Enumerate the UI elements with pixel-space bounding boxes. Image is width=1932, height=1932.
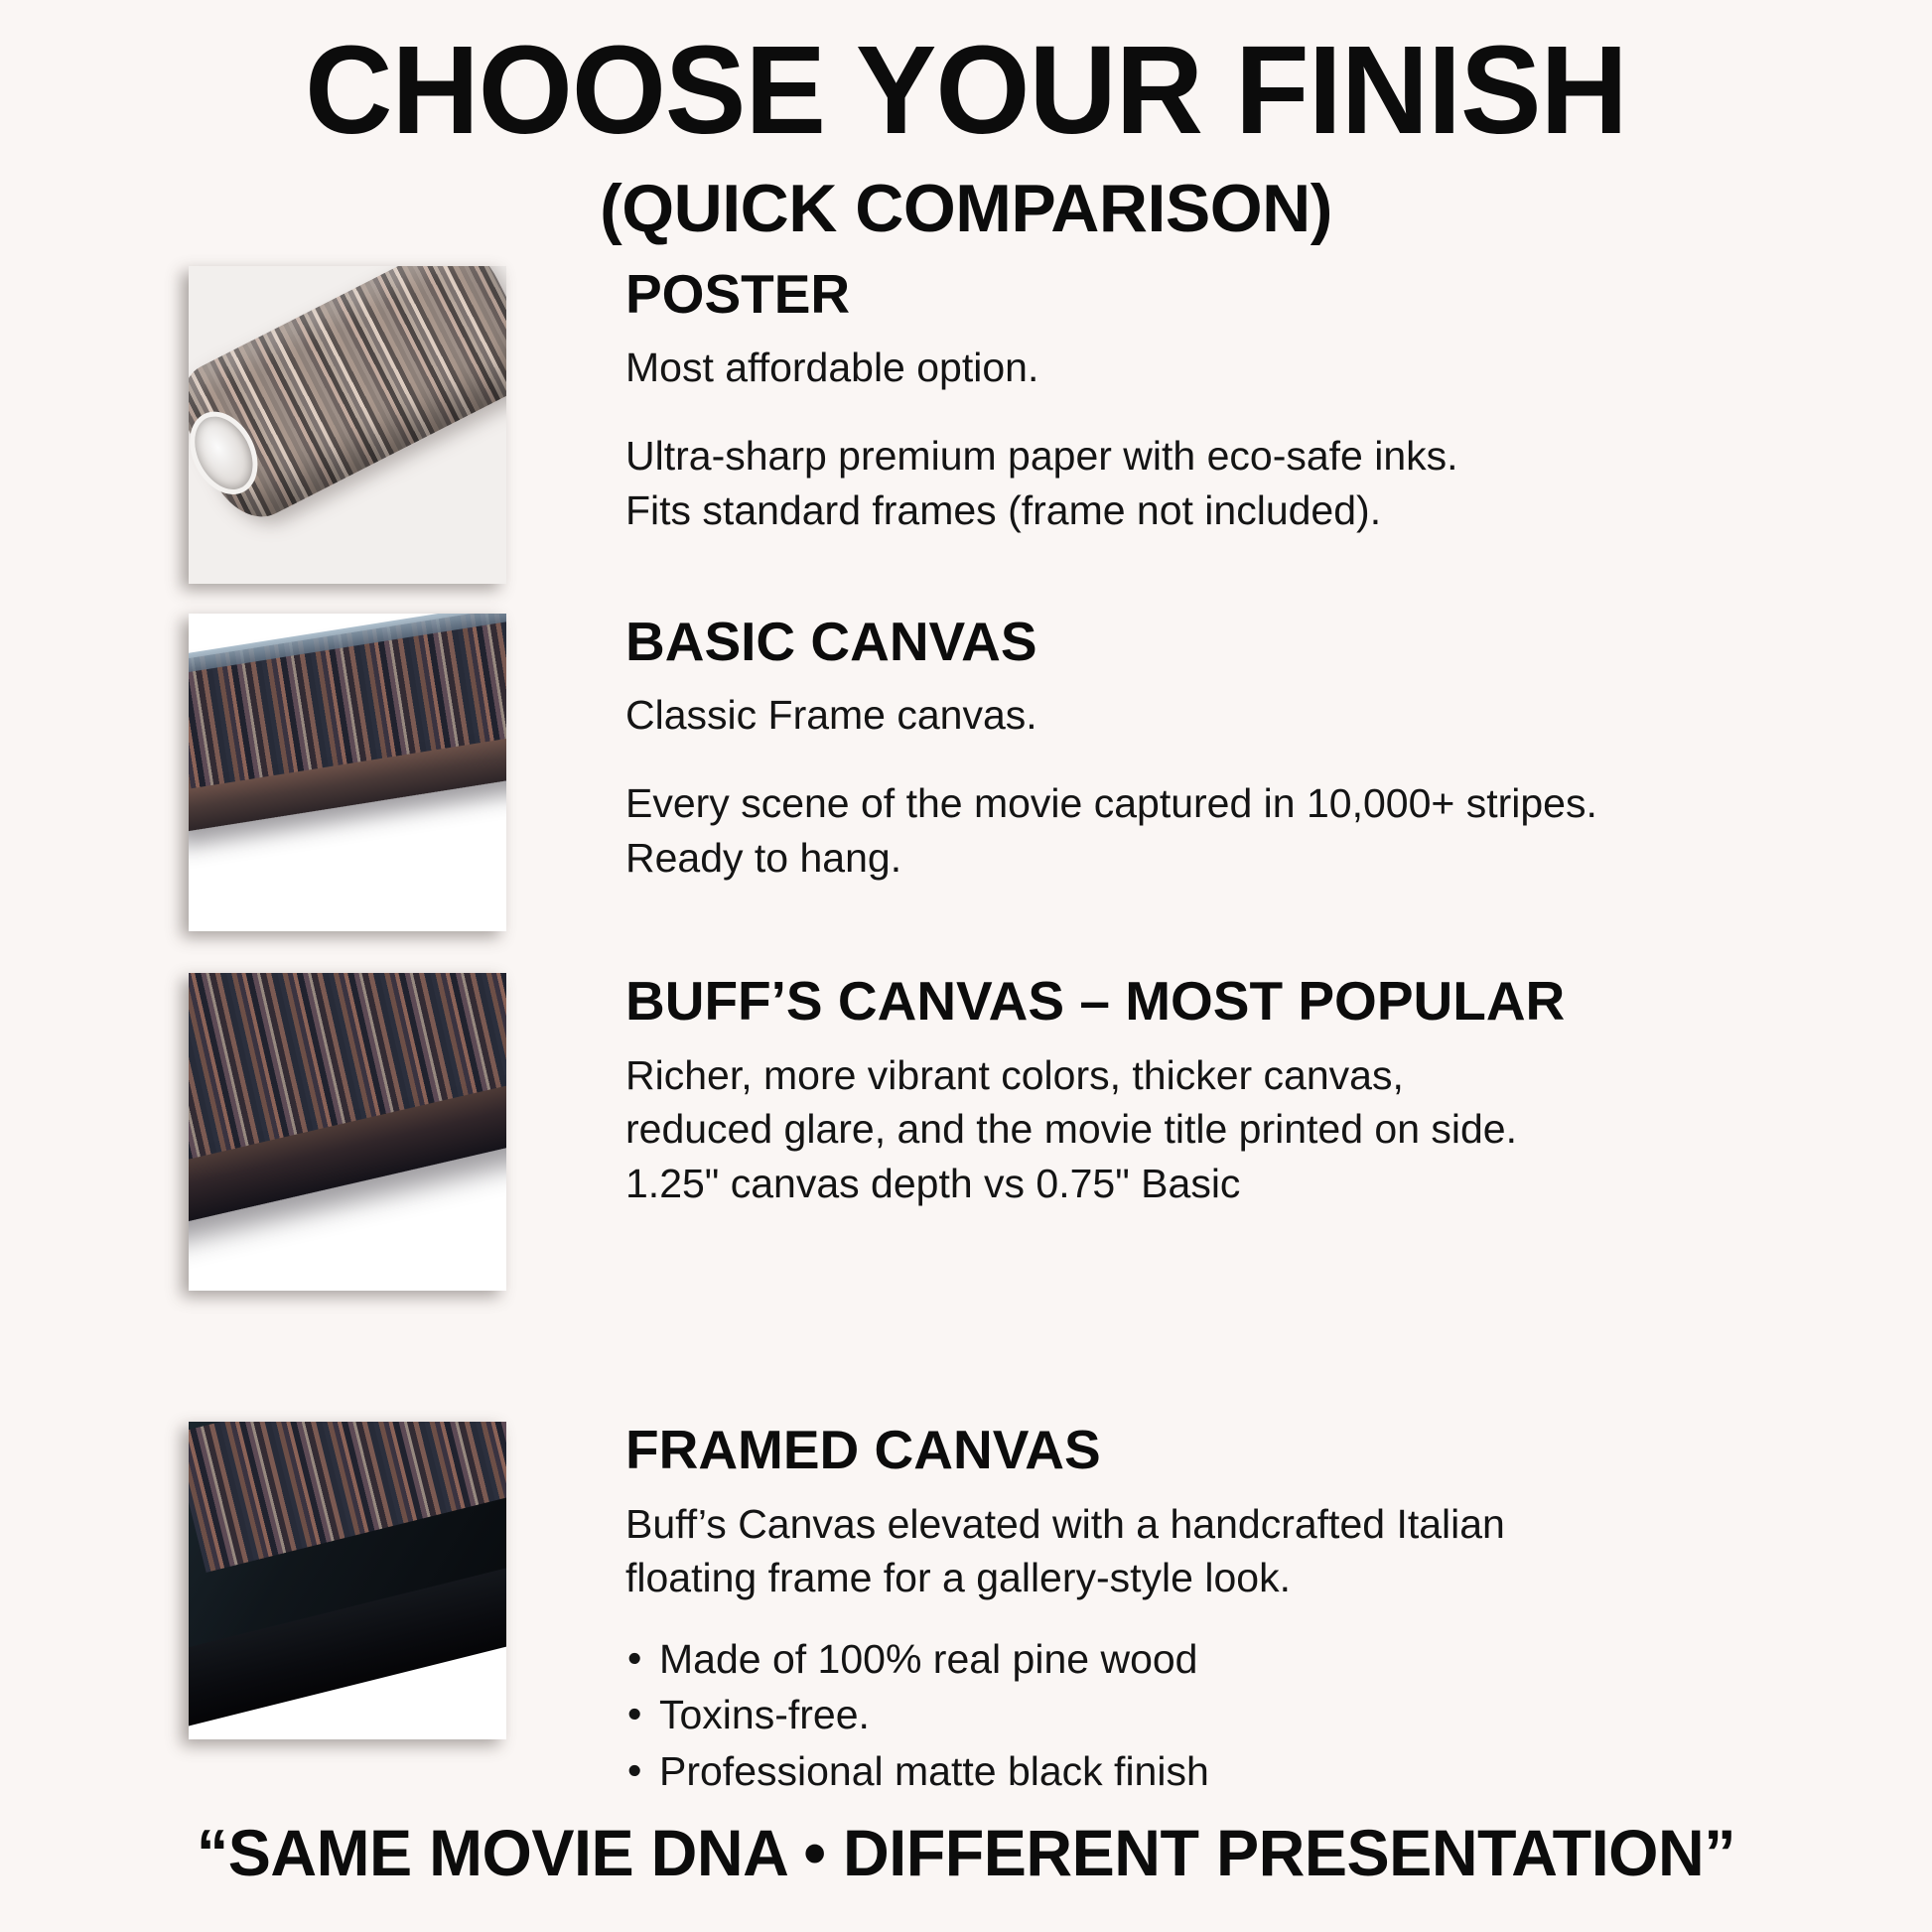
list-item: Professional matte black finish <box>625 1743 1872 1800</box>
roll-end-cap <box>189 400 271 506</box>
framed-canvas-photo <box>189 1422 506 1739</box>
finish-option-poster[interactable]: POSTER Most affordable option. Ultra-sha… <box>0 266 1932 584</box>
framed-canvas-title: FRAMED CANVAS <box>625 1422 1872 1479</box>
poster-tagline: Most affordable option. <box>625 342 1872 393</box>
buffs-canvas-detail-line-3: 1.25" canvas depth vs 0.75" Basic <box>625 1157 1872 1211</box>
basic-canvas-title: BASIC CANVAS <box>625 614 1872 671</box>
page-header: CHOOSE YOUR FINISH (QUICK COMPARISON) <box>0 0 1932 242</box>
rolled-poster-shape <box>189 266 506 532</box>
buffs-canvas-detail-line-1: Richer, more vibrant colors, thicker can… <box>625 1048 1872 1103</box>
buffs-canvas-image <box>189 973 506 1291</box>
poster-text-column: POSTER Most affordable option. Ultra-sha… <box>625 266 1932 537</box>
finish-option-framed-canvas[interactable]: FRAMED CANVAS Buff’s Canvas elevated wit… <box>0 1422 1932 1800</box>
poster-detail-line-1: Ultra-sharp premium paper with eco-safe … <box>625 429 1872 483</box>
poster-detail: Ultra-sharp premium paper with eco-safe … <box>625 429 1872 537</box>
buffs-canvas-photo <box>189 973 506 1291</box>
basic-canvas-detail: Every scene of the movie captured in 10,… <box>625 776 1872 885</box>
framed-canvas-detail: Buff’s Canvas elevated with a handcrafte… <box>625 1497 1872 1605</box>
poster-roll-photo <box>189 266 506 584</box>
buffs-canvas-detail: Richer, more vibrant colors, thicker can… <box>625 1048 1872 1211</box>
page-footer: “SAME MOVIE DNA • DIFFERENT PRESENTATION… <box>0 1815 1932 1890</box>
striped-artwork <box>189 1422 506 1573</box>
buffs-canvas-title: BUFF’S CANVAS – MOST POPULAR <box>625 973 1872 1031</box>
basic-canvas-detail-line-2: Ready to hang. <box>625 831 1872 886</box>
buffs-canvas-thumbnail-wrap <box>189 973 506 1291</box>
poster-title: POSTER <box>625 266 1872 324</box>
poster-detail-line-2: Fits standard frames (frame not included… <box>625 483 1872 538</box>
finish-option-basic-canvas[interactable]: BASIC CANVAS Classic Frame canvas. Every… <box>0 614 1932 931</box>
framed-canvas-text-column: FRAMED CANVAS Buff’s Canvas elevated wit… <box>625 1422 1932 1800</box>
list-item: Toxins-free. <box>625 1687 1872 1743</box>
basic-canvas-photo <box>189 614 506 931</box>
footer-tagline: “SAME MOVIE DNA • DIFFERENT PRESENTATION… <box>19 1815 1912 1890</box>
basic-canvas-tagline: Classic Frame canvas. <box>625 689 1872 741</box>
page-subtitle: (QUICK COMPARISON) <box>0 175 1932 242</box>
basic-canvas-text-column: BASIC CANVAS Classic Frame canvas. Every… <box>625 614 1932 885</box>
list-item: Made of 100% real pine wood <box>625 1631 1872 1688</box>
framed-canvas-image <box>189 1422 506 1739</box>
basic-canvas-detail-line-1: Every scene of the movie captured in 10,… <box>625 776 1872 831</box>
page-title: CHOOSE YOUR FINISH <box>29 28 1903 153</box>
framed-canvas-face <box>189 1422 506 1573</box>
basic-canvas-thumbnail-wrap <box>189 614 506 931</box>
framed-canvas-thumbnail-wrap <box>189 1422 506 1739</box>
finish-option-buffs-canvas[interactable]: BUFF’S CANVAS – MOST POPULAR Richer, mor… <box>0 973 1932 1291</box>
framed-canvas-bullet-list: Made of 100% real pine wood Toxins-free.… <box>625 1631 1872 1800</box>
poster-thumbnail-wrap <box>189 266 506 584</box>
buffs-canvas-detail-line-2: reduced glare, and the movie title print… <box>625 1102 1872 1157</box>
buffs-canvas-text-column: BUFF’S CANVAS – MOST POPULAR Richer, mor… <box>625 973 1932 1210</box>
framed-canvas-detail-line-1: Buff’s Canvas elevated with a handcrafte… <box>625 1497 1872 1552</box>
basic-canvas-image <box>189 614 506 931</box>
framed-canvas-detail-line-2: floating frame for a gallery-style look. <box>625 1551 1872 1605</box>
poster-roll-image <box>189 266 506 584</box>
